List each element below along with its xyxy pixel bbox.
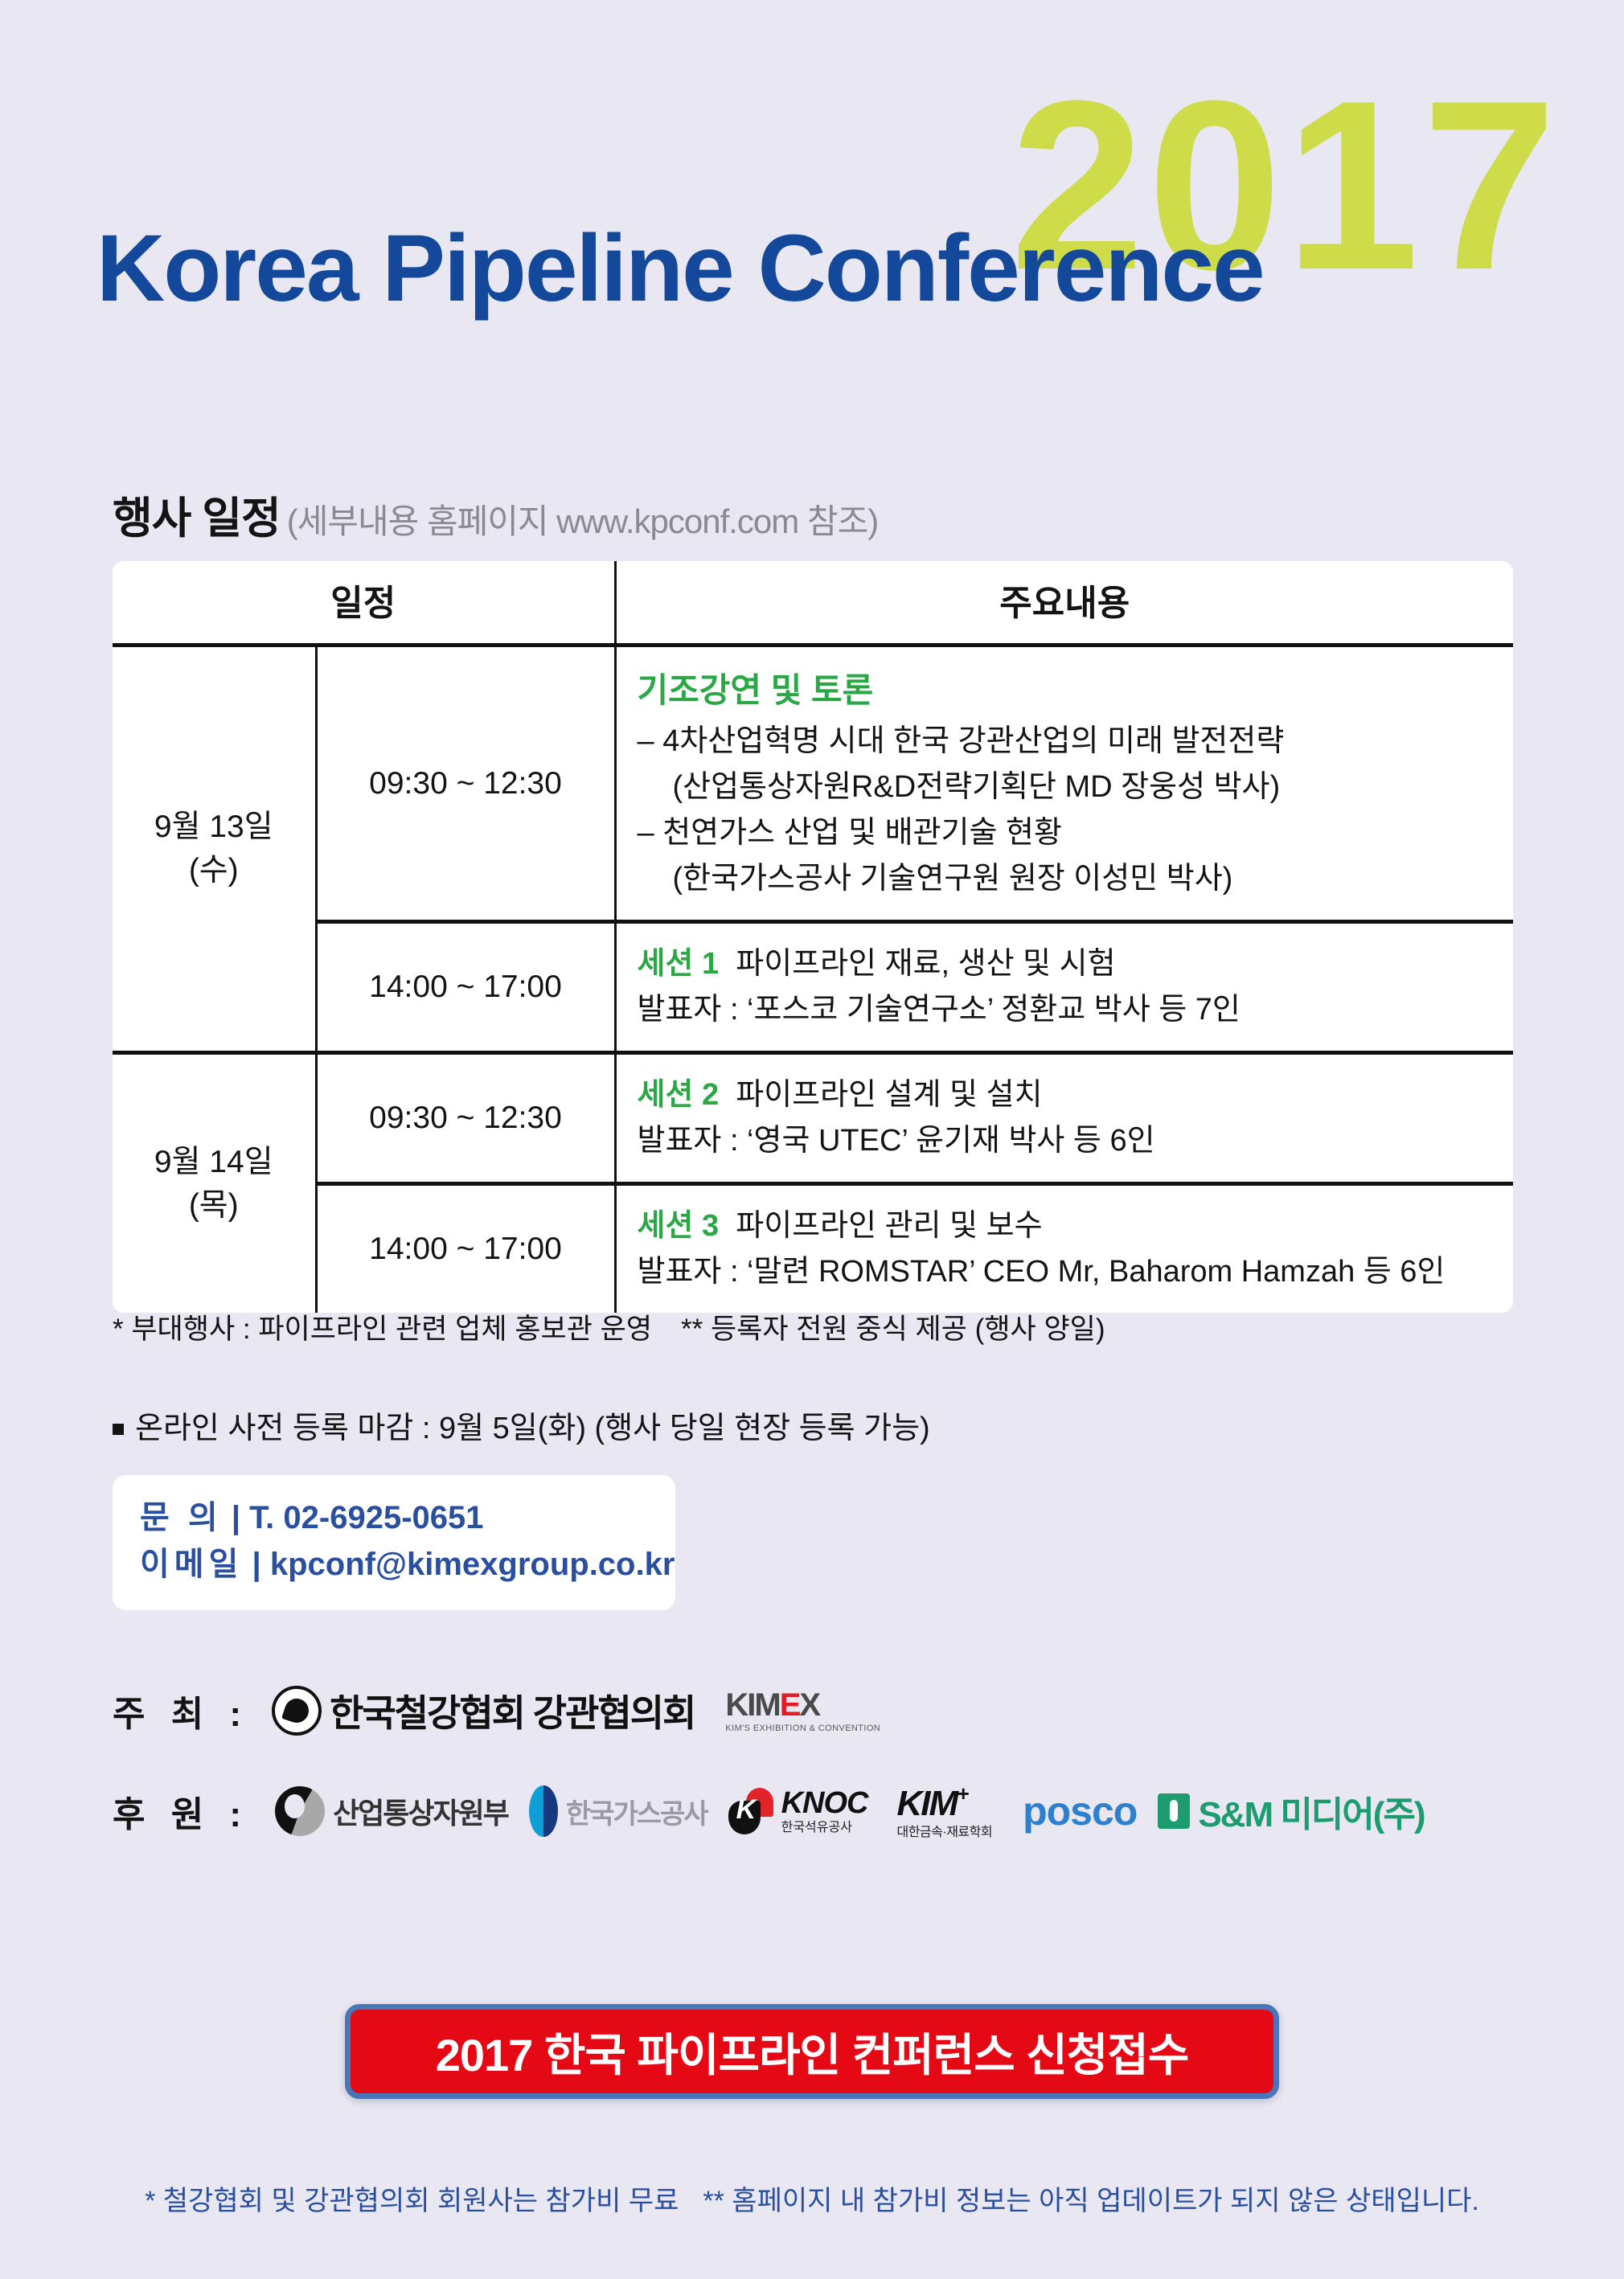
kimex-e: E xyxy=(780,1687,800,1723)
organizer-name: 한국철강협회 강관협의회 xyxy=(330,1684,695,1737)
schedule-table: 일정 주요내용 9월 13일 (수) 09:30 ~ 12:30 기조강연 및 … xyxy=(113,561,1513,1313)
knoc-emblem-icon: K xyxy=(728,1788,773,1834)
session-title-line: 세션 1 파이프라인 재료, 생산 및 시험 xyxy=(638,941,1499,987)
bottom-footnote-2: ** 홈페이지 내 참가비 정보는 아직 업데이트가 되지 않은 상태입니다. xyxy=(703,2186,1478,2216)
table-row: 14:00 ~ 17:00 세션 1 파이프라인 재료, 생산 및 시험 발표자… xyxy=(113,922,1513,1053)
sponsor-motie: 산업통상자원부 xyxy=(275,1786,508,1836)
keynote-line-3: – 천연가스 산업 및 배관기술 현황 xyxy=(638,810,1499,856)
sponsor-name-knoc: KNOC xyxy=(781,1788,868,1818)
session-tag: 세션 3 xyxy=(638,1209,720,1243)
contact-email-value[interactable]: kpconf@kimexgroup.co.kr xyxy=(270,1547,675,1582)
table-footnote-2: ** 등록자 전원 중식 제공 (행사 양일) xyxy=(681,1314,1105,1345)
session-presenter: 발표자 : ‘영국 UTEC’ 윤기재 박사 등 6인 xyxy=(638,1118,1499,1164)
sponsor-sub-knoc: 한국석유공사 xyxy=(781,1822,868,1834)
bottom-footnote-1: * 철강협회 및 강관협의회 회원사는 참가비 무료 xyxy=(145,2186,679,2216)
table-row: 14:00 ~ 17:00 세션 3 파이프라인 관리 및 보수 발표자 : ‘… xyxy=(113,1184,1513,1314)
organizer-row: 주 최 : 한국철강협회 강관협의회 KIMEX KIM'S EXHIBITIO… xyxy=(113,1684,880,1737)
contact-divider: | xyxy=(252,1547,261,1582)
contact-email-row: 이메일 | kpconf@kimexgroup.co.kr xyxy=(140,1541,648,1588)
cell-time: 14:00 ~ 17:00 xyxy=(316,1184,615,1314)
keynote-line-4: (한국가스공사 기술연구원 원장 이성민 박사) xyxy=(638,856,1499,902)
contact-phone-row: 문 의 | T. 02-6925-0651 xyxy=(140,1494,648,1541)
session-tag: 세션 1 xyxy=(638,947,720,981)
cell-content-session2: 세션 2 파이프라인 설계 및 설치 발표자 : ‘영국 UTEC’ 윤기재 박… xyxy=(615,1053,1513,1184)
registration-cta-label: 2017 한국 파이프라인 컨퍼런스 신청접수 xyxy=(436,2019,1189,2084)
sponsor-sm-media: S&M 미디어(주) xyxy=(1158,1785,1424,1837)
column-header-content: 주요내용 xyxy=(615,561,1513,646)
table-footnote: * 부대행사 : 파이프라인 관련 업체 홍보관 운영** 등록자 전원 중식 … xyxy=(113,1306,1105,1347)
sponsor-name-motie: 산업통상자원부 xyxy=(333,1790,508,1832)
keynote-line-2: (산업통상자원R&D전략기획단 MD 장웅성 박사) xyxy=(638,764,1499,810)
contact-phone-label: 문 의 xyxy=(140,1500,223,1535)
kim-plus-icon: + xyxy=(957,1781,967,1806)
sponsor-name-kogas: 한국가스공사 xyxy=(566,1792,707,1831)
sponsor-kogas: 한국가스공사 xyxy=(529,1785,707,1837)
registration-deadline-text: 온라인 사전 등록 마감 : 9월 5일(화) (행사 당일 현장 등록 가능) xyxy=(135,1412,930,1445)
cell-time: 14:00 ~ 17:00 xyxy=(316,922,615,1053)
kogas-flame-icon xyxy=(529,1785,558,1837)
organizer-label: 주 최 : xyxy=(113,1685,249,1736)
cell-content-session3: 세션 3 파이프라인 관리 및 보수 발표자 : ‘말련 ROMSTAR’ CE… xyxy=(615,1184,1513,1314)
cell-time: 09:30 ~ 12:30 xyxy=(316,646,615,922)
cell-time: 09:30 ~ 12:30 xyxy=(316,1053,615,1184)
table-row: 9월 14일 (목) 09:30 ~ 12:30 세션 2 파이프라인 설계 및… xyxy=(113,1053,1513,1184)
sponsor-label: 후 원 : xyxy=(113,1785,249,1837)
poster-title-block: 2017 Korea Pipeline Conference xyxy=(0,96,1624,402)
session-tag: 세션 2 xyxy=(638,1078,720,1112)
kosa-logo: 한국철강협회 강관협의회 xyxy=(272,1684,695,1737)
kimex-wordmark: KIMEX xyxy=(725,1689,819,1721)
session-presenter: 발표자 : ‘말련 ROMSTAR’ CEO Mr, Baharom Hamza… xyxy=(638,1249,1499,1295)
cell-content-session1: 세션 1 파이프라인 재료, 생산 및 시험 발표자 : ‘포스코 기술연구소’… xyxy=(615,922,1513,1053)
kimex-tagline: KIM'S EXHIBITION & CONVENTION xyxy=(725,1724,880,1733)
registration-deadline: 온라인 사전 등록 마감 : 9월 5일(화) (행사 당일 현장 등록 가능) xyxy=(113,1403,930,1447)
schedule-heading-strong: 행사 일정 xyxy=(113,494,281,543)
bottom-footnote: * 철강협회 및 강관협의회 회원사는 참가비 무료** 홈페이지 내 참가비 … xyxy=(0,2179,1624,2218)
sm-media-icon xyxy=(1158,1793,1190,1829)
page-title: Korea Pipeline Conference xyxy=(96,221,1264,316)
schedule-heading: 행사 일정(세부내용 홈페이지 www.kpconf.com 참조) xyxy=(113,482,878,546)
contact-email-label: 이메일 xyxy=(140,1547,243,1582)
cell-date-sep13: 9월 13일 (수) xyxy=(113,646,316,1053)
keynote-line-1: – 4차산업혁명 시대 한국 강관산업의 미래 발전전략 xyxy=(638,719,1499,764)
table-header-row: 일정 주요내용 xyxy=(113,561,1513,646)
date-line-2: (수) xyxy=(189,853,239,887)
schedule-heading-sub: (세부내용 홈페이지 www.kpconf.com 참조) xyxy=(287,502,878,540)
session-title: 파이프라인 재료, 생산 및 시험 xyxy=(736,947,1115,981)
sponsor-sub-kim: 대한금속·재료학회 xyxy=(896,1826,992,1839)
kim-wordmark: KIM+ xyxy=(896,1783,992,1822)
date-line-1: 9월 13일 xyxy=(154,810,273,844)
table-row: 9월 13일 (수) 09:30 ~ 12:30 기조강연 및 토론 – 4차산… xyxy=(113,646,1513,922)
cell-content-keynote: 기조강연 및 토론 – 4차산업혁명 시대 한국 강관산업의 미래 발전전략 (… xyxy=(615,646,1513,922)
kimex-kim: KIM xyxy=(725,1687,779,1723)
square-bullet-icon xyxy=(113,1424,124,1435)
kimex-x: X xyxy=(799,1687,819,1723)
sponsor-name-sm-media: S&M 미디어(주) xyxy=(1198,1785,1424,1837)
contact-divider: | xyxy=(232,1500,240,1535)
column-header-date: 일정 xyxy=(113,561,615,646)
sponsor-name-kim: KIM xyxy=(896,1784,957,1823)
sponsor-kim: KIM+ 대한금속·재료학회 xyxy=(896,1783,992,1839)
session-title: 파이프라인 관리 및 보수 xyxy=(736,1209,1042,1243)
contact-phone-value[interactable]: T. 02-6925-0651 xyxy=(249,1500,483,1535)
knoc-wordmark: KNOC 한국석유공사 xyxy=(781,1788,868,1834)
keynote-heading: 기조강연 및 토론 xyxy=(638,665,1499,715)
date-line-2: (목) xyxy=(189,1188,239,1223)
table-footnote-1: * 부대행사 : 파이프라인 관련 업체 홍보관 운영 xyxy=(113,1314,652,1345)
kimex-logo: KIMEX KIM'S EXHIBITION & CONVENTION xyxy=(725,1689,880,1733)
kosa-seal-icon xyxy=(272,1686,322,1736)
cell-date-sep14: 9월 14일 (목) xyxy=(113,1053,316,1314)
session-title: 파이프라인 설계 및 설치 xyxy=(736,1078,1042,1112)
sponsor-row: 후 원 : 산업통상자원부 한국가스공사 K KNOC 한국석유공사 KIM+ … xyxy=(113,1783,1425,1839)
taegeuk-icon xyxy=(275,1786,325,1836)
session-title-line: 세션 2 파이프라인 설계 및 설치 xyxy=(638,1072,1499,1118)
date-line-1: 9월 14일 xyxy=(154,1145,273,1179)
contact-box: 문 의 | T. 02-6925-0651 이메일 | kpconf@kimex… xyxy=(113,1475,675,1610)
sponsor-knoc: K KNOC 한국석유공사 xyxy=(728,1788,868,1834)
sponsor-name-posco: posco xyxy=(1023,1788,1137,1834)
session-presenter: 발표자 : ‘포스코 기술연구소’ 정환교 박사 등 7인 xyxy=(638,987,1499,1033)
session-title-line: 세션 3 파이프라인 관리 및 보수 xyxy=(638,1203,1499,1249)
registration-cta-button[interactable]: 2017 한국 파이프라인 컨퍼런스 신청접수 xyxy=(345,2004,1279,2099)
